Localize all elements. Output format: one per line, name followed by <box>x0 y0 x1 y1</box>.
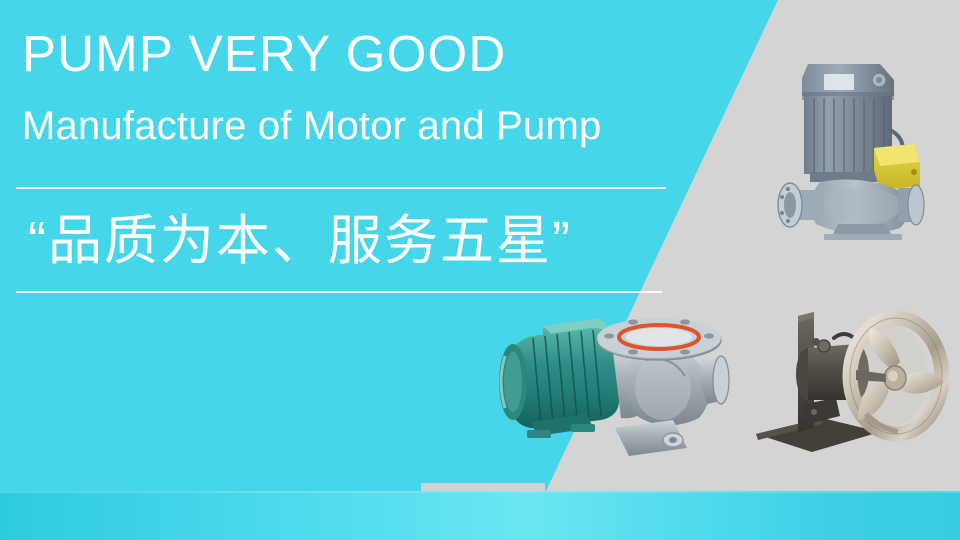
bottom-gradient-band <box>0 491 960 540</box>
product-image-vertical-inline-pump <box>762 44 952 244</box>
page-subtitle: Manufacture of Motor and Pump <box>22 106 601 146</box>
baseline-accent-strip <box>421 483 545 491</box>
divider-top <box>16 187 666 189</box>
product-image-horizontal-centrifugal-pump <box>487 300 737 468</box>
page-title: PUMP VERY GOOD <box>22 28 506 79</box>
bottom-band-highlight <box>0 491 960 493</box>
slogan-text: “品质为本、服务五星” <box>28 200 572 282</box>
product-image-submersible-mixer <box>752 300 960 465</box>
promo-banner: PUMP VERY GOOD Manufacture of Motor and … <box>0 0 960 540</box>
divider-bottom <box>16 291 662 293</box>
